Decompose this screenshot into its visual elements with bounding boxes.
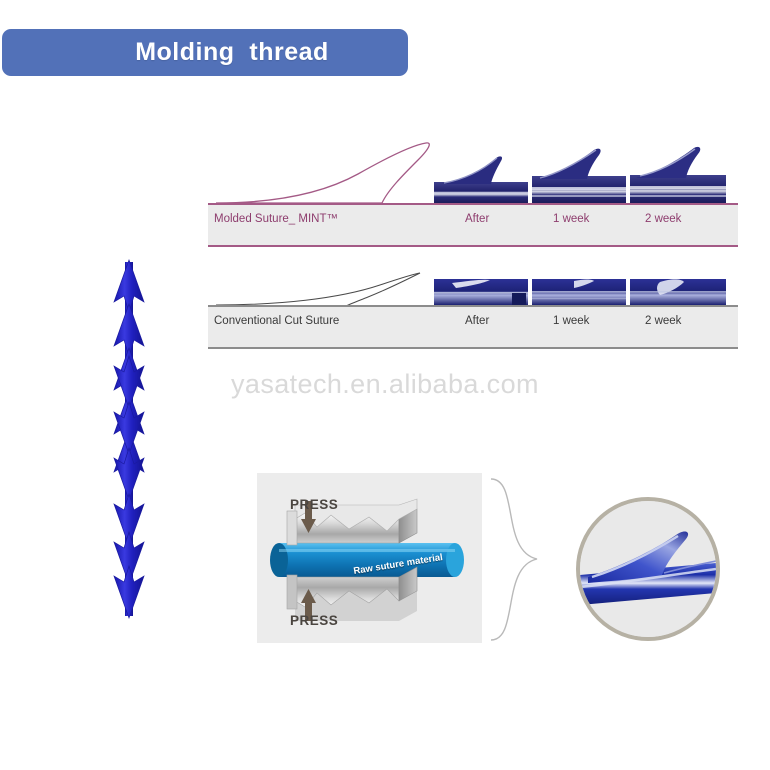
panel-bottom-rule-conventional <box>208 347 738 349</box>
timepoint-label-molded-2week: 2 week <box>645 213 681 225</box>
page-title: Molding thread <box>81 38 329 67</box>
slide-canvas: Molding thread <box>0 0 770 770</box>
timepoint-label-molded-1week: 1 week <box>553 213 589 225</box>
barbed-suture-thread-illustration <box>96 258 162 620</box>
panel-top-rule-conventional <box>208 305 738 307</box>
panel-label-molded: Molded Suture_ MINT™ <box>214 213 338 225</box>
panel-top-rule-molded <box>208 203 738 205</box>
timepoint-label-molded-after: After <box>465 213 489 225</box>
specimen-molded-1week <box>532 146 626 204</box>
panel-label-conventional: Conventional Cut Suture <box>214 315 339 327</box>
specimen-conventional-1week <box>532 279 626 305</box>
molding-process-diagram: PRESS PRESS Raw suture material <box>257 473 482 643</box>
site-watermark: yasatech.en.alibaba.com <box>231 369 539 400</box>
timepoint-label-conventional-2week: 2 week <box>645 315 681 327</box>
specimen-conventional-after <box>434 279 528 305</box>
magnified-barb-inset <box>576 497 720 641</box>
brace-connector <box>485 477 545 642</box>
timepoint-label-conventional-after: After <box>465 315 489 327</box>
specimen-conventional-2week <box>630 279 726 305</box>
specimen-molded-after <box>434 152 528 204</box>
panel-bottom-rule-molded <box>208 245 738 247</box>
specimen-molded-2week <box>630 145 726 204</box>
press-label-bottom: PRESS <box>290 613 338 628</box>
header-banner: Molding thread <box>2 29 408 76</box>
magnified-barb-photo <box>580 501 716 637</box>
suture-comparison-figure: Molded Suture_ MINT™ After 1 week 2 week <box>208 140 738 355</box>
press-label-top: PRESS <box>290 497 338 512</box>
timepoint-label-conventional-1week: 1 week <box>553 315 589 327</box>
